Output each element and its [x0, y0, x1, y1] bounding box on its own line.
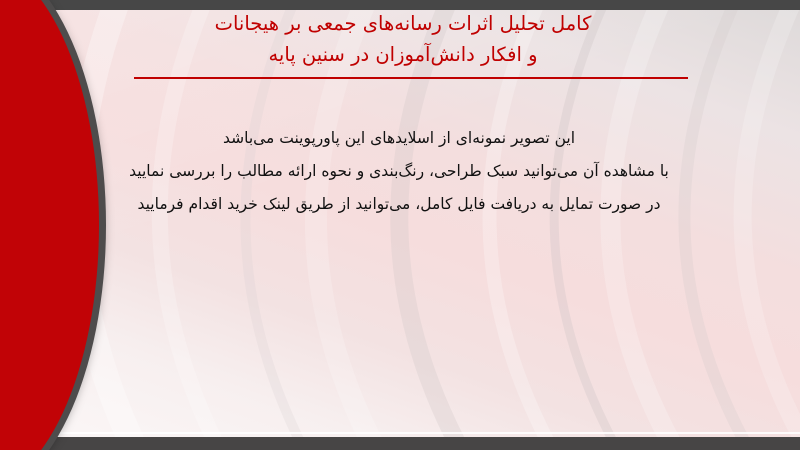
slide-title: کامل تحلیل اثرات رسانه‌های جمعی بر هیجان…	[118, 8, 688, 70]
body-line-3: در صورت تمایل به دریافت فایل کامل، می‌تو…	[106, 188, 692, 221]
title-line-1: کامل تحلیل اثرات رسانه‌های جمعی بر هیجان…	[118, 8, 688, 39]
body-line-2: با مشاهده آن می‌توانید سبک طراحی، رنگ‌بن…	[106, 155, 692, 188]
panel-bottom-bevel	[30, 432, 800, 434]
slide-content-panel	[18, 10, 800, 437]
body-line-1: این تصویر نمونه‌ای از اسلایدهای این پاور…	[106, 122, 692, 155]
title-underline-rule	[134, 77, 688, 79]
title-line-2: و افکار دانش‌آموزان در سنین پایه	[118, 39, 688, 70]
slide-body-text: این تصویر نمونه‌ای از اسلایدهای این پاور…	[106, 122, 692, 221]
presentation-slide: کامل تحلیل اثرات رسانه‌های جمعی بر هیجان…	[0, 0, 800, 450]
